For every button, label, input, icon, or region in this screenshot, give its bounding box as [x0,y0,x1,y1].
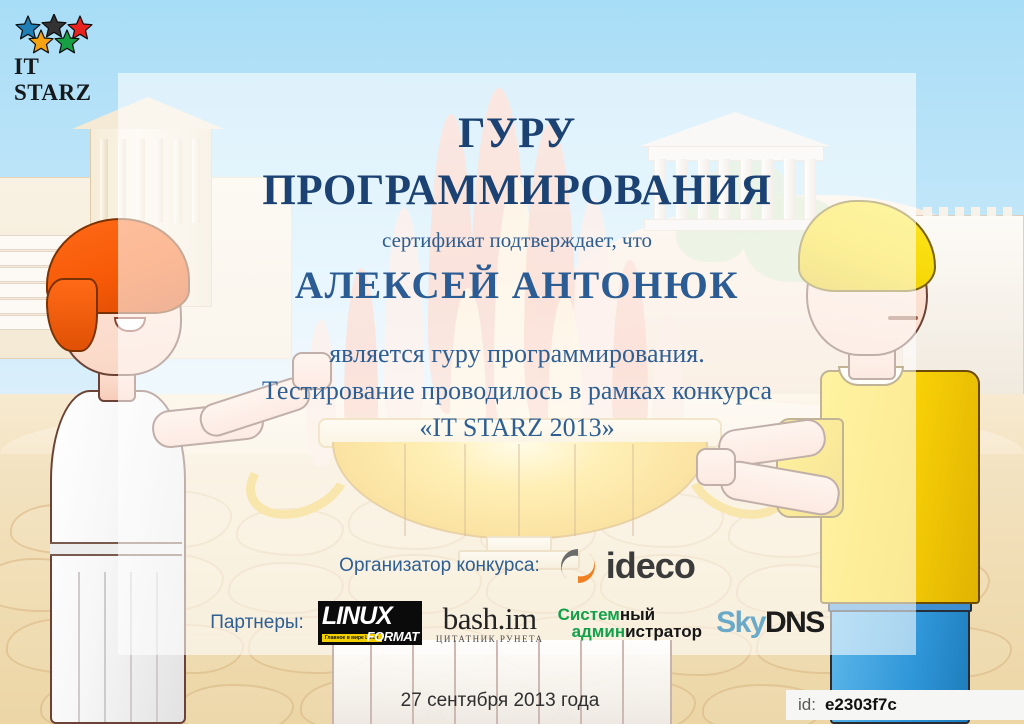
certificate-body: является гуру программирования. Тестиров… [118,335,916,446]
certificate-date: 27 сентября 2013 года [332,690,668,712]
partners-row: Партнеры: LINUX Главное в мире Linux FOR… [118,601,916,645]
bash-im-subtitle: ЦИТАТНИК РУНЕТА [436,635,544,644]
star-dark [42,14,66,37]
certificate-subtitle: сертификат подтверждает, что [118,228,916,253]
id-label: id: [798,695,816,715]
body-line-1: является гуру программирования. [118,335,916,372]
ideco-wordmark: ideco [606,545,695,587]
sysadmin-line2-green: админ [572,622,626,641]
sysadmin-line2-black: истратор [625,622,702,641]
star-blue [16,16,40,39]
skydns-part-dns: DNS [765,606,824,639]
organizer-label: Организатор конкурса: [339,555,540,577]
partners-label: Партнеры: [210,612,304,634]
it-starz-brand-logo[interactable]: IT STARZ [14,14,114,90]
title-line-2: ПРОГРАММИРОВАНИЯ [118,162,916,219]
sysadmin-line-1: Системный [558,606,703,623]
bash-im-wordmark: bash.im [436,603,544,634]
ideco-logo[interactable]: ideco [558,545,695,587]
bash-im-logo[interactable]: bash.im ЦИТАТНИК РУНЕТА [436,603,544,644]
recipient-name: АЛЕКСЕЙ АНТОНЮК [118,263,916,308]
linux-format-logo[interactable]: LINUX Главное в мире Linux FORMAT [318,601,422,645]
five-stars-icon [14,14,114,58]
certificate-canvas: ГУРУ ПРОГРАММИРОВАНИЯ сертификат подтвер… [0,0,1024,724]
brand-wordmark: IT STARZ [14,54,114,106]
woman-hair-side [46,278,98,352]
star-red [68,16,92,39]
id-badge: id: e2303f7c [786,690,1024,720]
sysadmin-line-2: администратор [572,623,703,640]
sistemny-administrator-logo[interactable]: Системный администратор [558,606,703,640]
linux-format-wordmark: LINUX [322,602,392,631]
skydns-part-sky: Sky [716,606,765,639]
certificate-title: ГУРУ ПРОГРАММИРОВАНИЯ [118,105,916,219]
title-line-1: ГУРУ [118,105,916,162]
organizer-row: Организатор конкурса: ideco [118,545,916,587]
skydns-logo[interactable]: SkyDNS [716,606,824,640]
body-line-3: «IT STARZ 2013» [118,409,916,446]
body-line-2: Тестирование проводилось в рамках конкур… [118,372,916,409]
linux-format-secondary: FORMAT [367,629,419,644]
ideco-swirl-icon [558,546,598,586]
id-value: e2303f7c [825,695,897,715]
certificate-content: ГУРУ ПРОГРАММИРОВАНИЯ сертификат подтвер… [118,73,916,655]
brand-stars [14,14,114,56]
